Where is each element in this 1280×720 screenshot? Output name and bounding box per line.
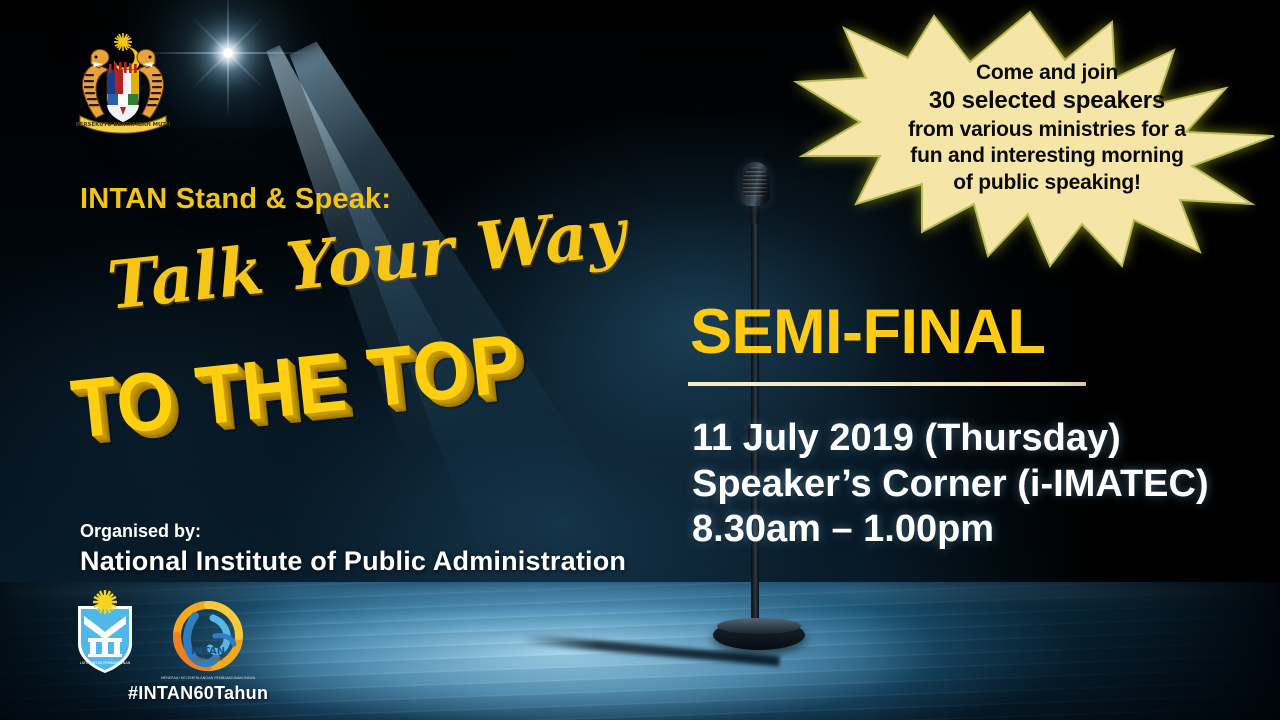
event-time: 8.30am – 1.00pm — [692, 507, 1209, 553]
event-venue: Speaker’s Corner (i-IMATEC) — [692, 462, 1209, 508]
starburst-badge: Come and join 30 selected speakers from … — [782, 8, 1280, 270]
spotlight-icon — [223, 48, 233, 58]
badge-line-2: from various ministries for a — [892, 117, 1202, 143]
svg-text:BERSEKUTU BERTAMBAH MUTU: BERSEKUTU BERTAMBAH MUTU — [76, 122, 171, 128]
svg-text:INTAN: INTAN — [191, 646, 225, 657]
organiser-name: National Institute of Public Administrat… — [80, 546, 626, 577]
spotlight-flare-vertical — [227, 0, 229, 118]
event-details: 11 July 2019 (Thursday) Speaker’s Corner… — [692, 416, 1209, 553]
event-stage-label: SEMI-FINAL — [690, 296, 1045, 368]
page-kicker: INTAN Stand & Speak: — [80, 183, 391, 216]
svg-text:MENERAJU KECEMERLANGAN PEMBANG: MENERAJU KECEMERLANGAN PEMBANGUNAN INSAN — [161, 676, 256, 680]
starburst-text: Come and join 30 selected speakers from … — [892, 60, 1202, 196]
badge-line-1: 30 selected speakers — [892, 86, 1202, 116]
divider — [688, 382, 1086, 386]
intan-shield-logo-icon: LATIH UNTUK PEMBANGUNAN — [70, 588, 140, 676]
badge-line-4: of public speaking! — [892, 170, 1202, 196]
intan-60th-anniversary-logo-icon: INTAN 1959 - 2019 MENERAJU KECEMERLANGAN… — [158, 596, 258, 684]
badge-line-3: fun and interesting morning — [892, 143, 1202, 169]
floor-shadow-right — [860, 582, 1280, 720]
microphone-base-top — [717, 618, 801, 634]
poster-canvas: BERSEKUTU BERTAMBAH MUTU INTAN Stand & S… — [0, 0, 1280, 720]
malaysian-coat-of-arms-icon: BERSEKUTU BERTAMBAH MUTU — [58, 30, 188, 140]
badge-line-0: Come and join — [892, 60, 1202, 86]
microphone-grille — [743, 167, 767, 197]
hashtag-label: #INTAN60Tahun — [128, 683, 268, 704]
event-date: 11 July 2019 (Thursday) — [692, 416, 1209, 462]
organiser-label: Organised by: — [80, 521, 201, 542]
svg-text:1959 - 2019: 1959 - 2019 — [193, 657, 223, 663]
svg-text:LATIH UNTUK PEMBANGUNAN: LATIH UNTUK PEMBANGUNAN — [80, 661, 131, 665]
